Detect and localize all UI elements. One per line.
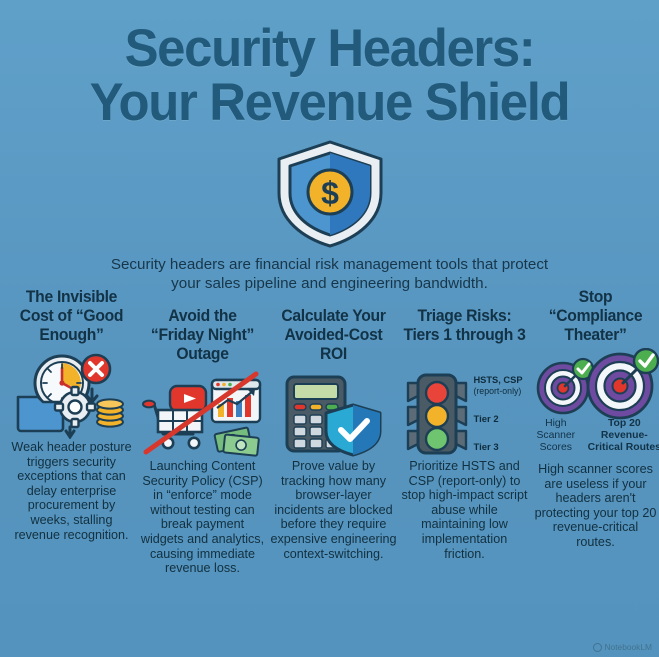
column-artwork: [6, 348, 137, 440]
legend-tier-1-sub: (report-only): [473, 386, 522, 397]
legend-tier-3-label: Tier 3: [473, 442, 522, 453]
column-heading: The Invisible Cost of “Good Enough”: [9, 288, 133, 348]
calculator-shield-check-icon: [281, 369, 386, 457]
column-friday-night-outage: Avoid the “Friday Night” Outage: [137, 307, 268, 576]
column-body: Weak header posture triggers security ex…: [6, 440, 137, 542]
column-heading: Avoid the “Friday Night” Outage: [140, 307, 264, 367]
traffic-light-icon: [406, 369, 468, 457]
column-body: Prioritize HSTS and CSP (report-only) to…: [399, 459, 530, 561]
page-title: Security Headers: Your Revenue Shield: [0, 0, 659, 130]
traffic-light-group: HSTS, CSP (report-only) Tier 2 Tier 3: [406, 369, 522, 457]
hero-shield-area: $: [0, 138, 659, 250]
target-label-routes: Top 20 Revenue-Critical Routes: [588, 418, 659, 454]
target-label-scanner: High Scanner Scores: [530, 418, 582, 454]
watermark-label: NotebookLM: [605, 642, 653, 652]
notebooklm-icon: [593, 643, 602, 652]
column-compliance-theater: Stop “Compliance Theater”: [530, 307, 659, 576]
infographic-page: Security Headers: Your Revenue Shield $ …: [0, 0, 659, 657]
column-body: High scanner scores are useless if your …: [530, 462, 659, 550]
subtitle: Security headers are financial risk mana…: [95, 256, 565, 293]
column-heading: Triage Risks: Tiers 1 through 3: [402, 307, 526, 367]
shield-dollar-icon: $: [269, 138, 391, 250]
column-artwork: [530, 348, 659, 420]
shopping-cart-broken-analytics-icon: [140, 368, 266, 458]
title-line-1: Security Headers:: [13, 22, 646, 76]
clock-gear-folder-coins-icon: [12, 349, 132, 439]
legend-tier-1-label: HSTS, CSP: [473, 375, 522, 385]
dual-target-bullseye-icon: [532, 348, 659, 420]
watermark: NotebookLM: [593, 642, 653, 652]
column-invisible-cost: The Invisible Cost of “Good Enough”: [6, 307, 137, 576]
column-heading: Stop “Compliance Theater”: [533, 288, 657, 348]
target-labels: High Scanner Scores Top 20 Revenue-Criti…: [530, 418, 659, 454]
column-body: Prove value by tracking how many browser…: [268, 459, 399, 561]
traffic-light-legend: HSTS, CSP (report-only) Tier 2 Tier 3: [473, 373, 522, 453]
legend-tier-1: HSTS, CSP (report-only): [473, 375, 522, 396]
column-heading: Calculate Your Avoided-Cost ROI: [271, 307, 395, 367]
legend-tier-2-label: Tier 2: [473, 414, 522, 425]
svg-text:$: $: [321, 175, 339, 211]
columns-row: The Invisible Cost of “Good Enough”: [0, 307, 659, 576]
column-artwork: HSTS, CSP (report-only) Tier 2 Tier 3: [399, 367, 530, 459]
column-artwork: [137, 367, 268, 459]
column-body: Launching Content Security Policy (CSP) …: [137, 459, 268, 576]
column-avoided-cost-roi: Calculate Your Avoided-Cost ROI: [268, 307, 399, 576]
column-artwork: [268, 367, 399, 459]
column-triage-risks: Triage Risks: Tiers 1 through 3: [399, 307, 530, 576]
title-line-2: Your Revenue Shield: [13, 76, 646, 130]
